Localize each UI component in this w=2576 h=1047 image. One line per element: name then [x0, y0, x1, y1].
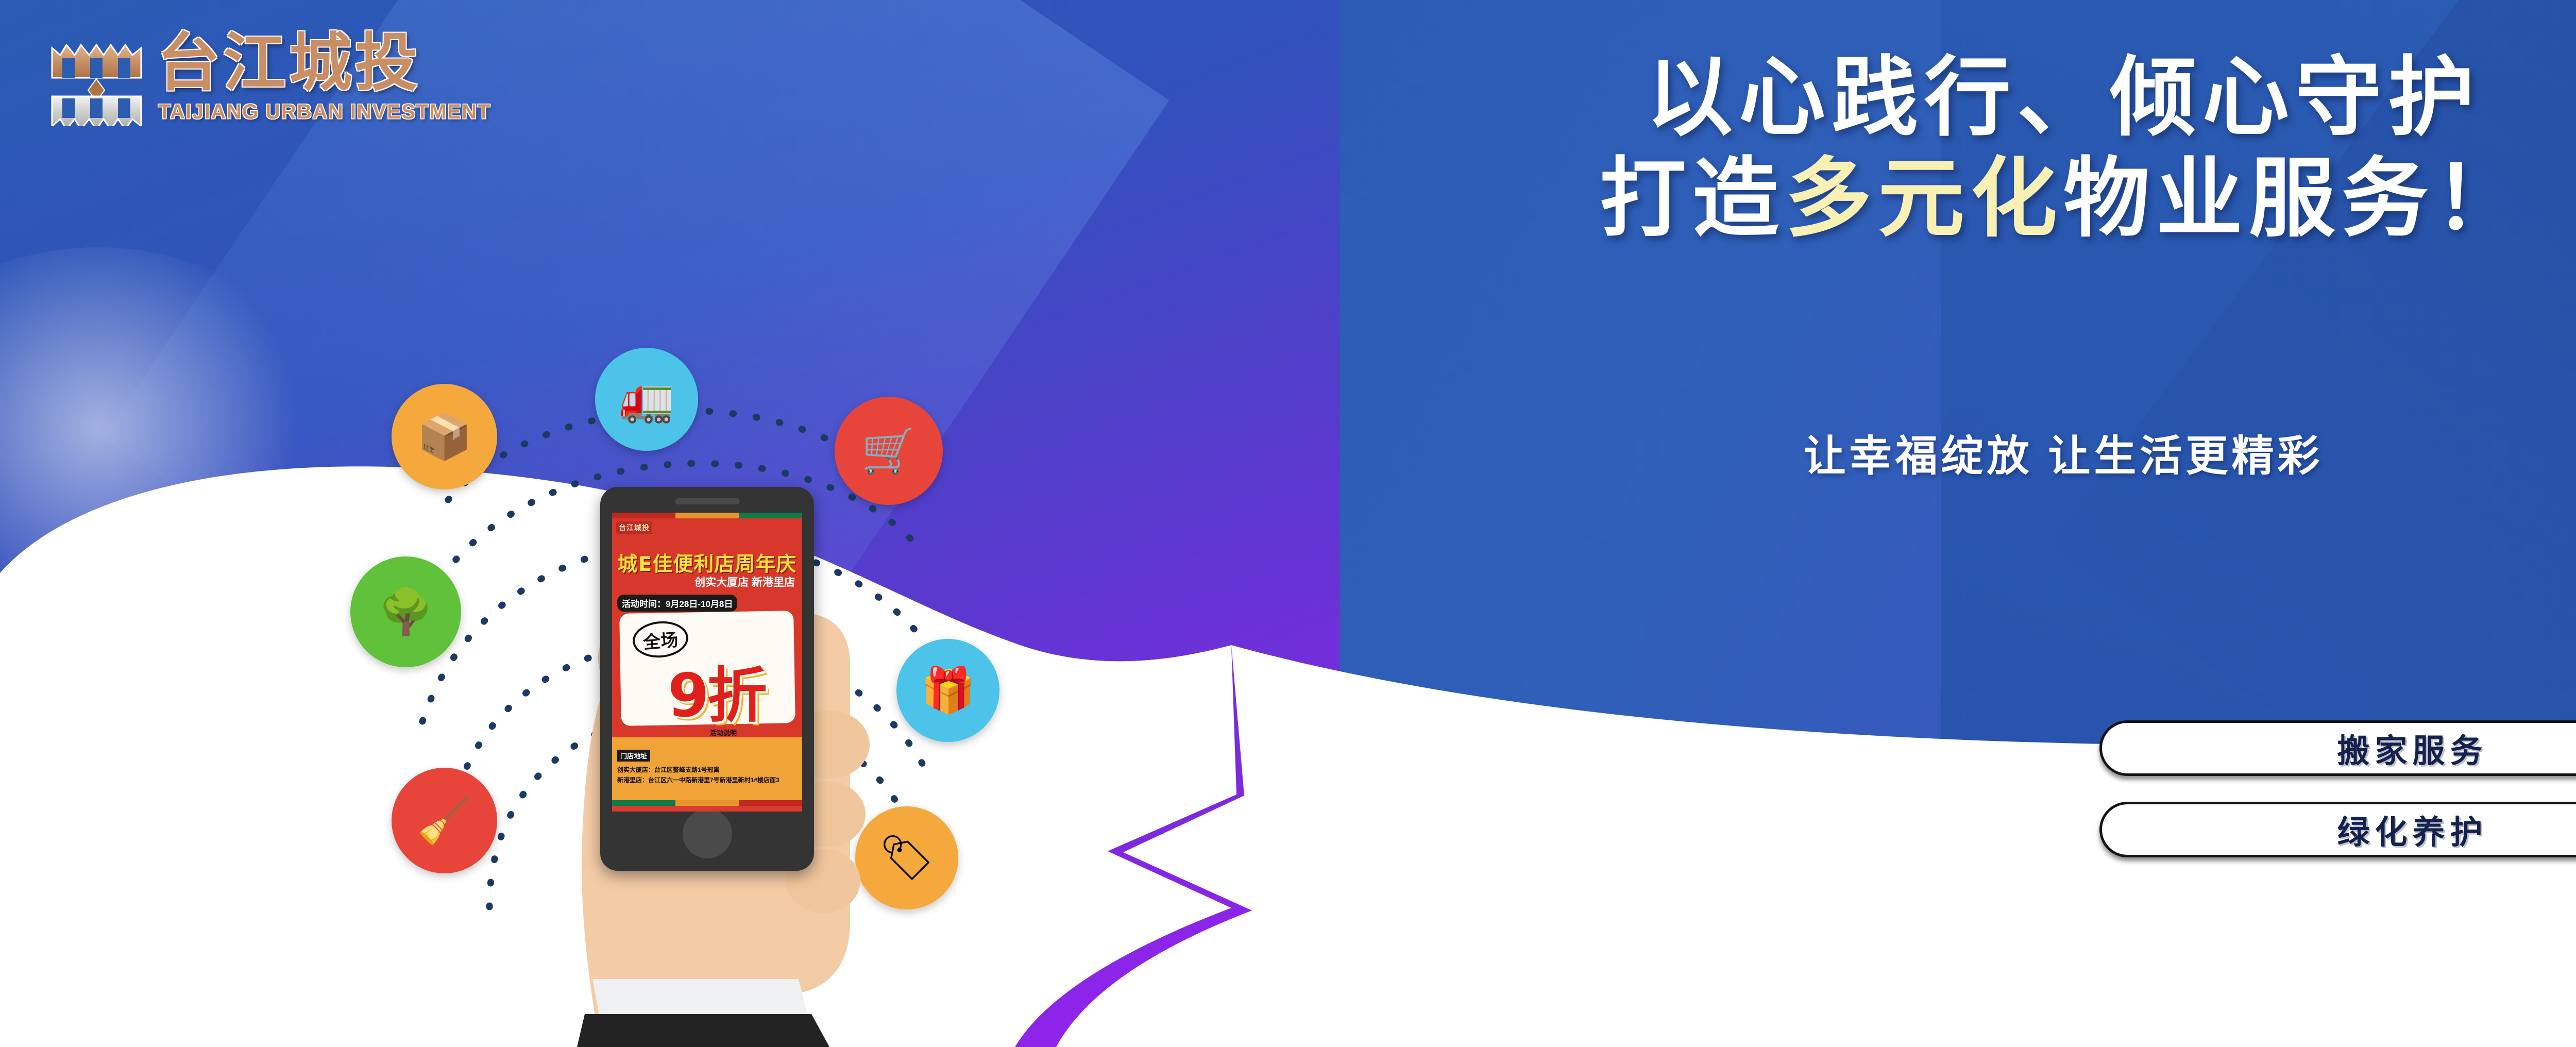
property-service-banner: 台江城投 TAIJIANG URBAN INVESTMENT 以心践行、倾心守护… — [0, 0, 2576, 1047]
service-button-label: 绿化养护 — [2337, 806, 2488, 853]
tree-icon: 🌳 — [350, 556, 461, 667]
brand-logo[interactable]: 台江城投 TAIJIANG URBAN INVESTMENT — [49, 28, 585, 129]
poster-top-colorbar — [612, 513, 802, 518]
logo-english-name: TAIJIANG URBAN INVESTMENT — [158, 100, 491, 124]
poster-discount-value: 9折 — [668, 647, 765, 734]
headline-line2-accent: 多元化 — [1785, 148, 2063, 249]
taijiang-gate-emblem-icon — [49, 28, 144, 126]
headline-line2-suffix: 物业服务！ — [2063, 148, 2527, 249]
poster-store-list: 创实大厦店 新港里店 — [612, 574, 795, 589]
cleaner-icon: 🧹 — [392, 768, 497, 873]
phone-speaker — [675, 498, 739, 504]
poster-address-2: 新港里店：台江区六一中路新港里7号新港里新村1#楼店面3 — [617, 775, 779, 784]
moving-box-icon: 📦 — [392, 384, 497, 489]
poster-bottom-colorbar — [612, 800, 802, 806]
poster-note-title: 活动说明 — [710, 728, 737, 737]
phone-screen[interactable]: 台江城投 城E佳便利店周年庆 创实大厦店 新港里店 活动时间：9月28日-10月… — [612, 513, 802, 812]
poster-title: 城E佳便利店周年庆 — [612, 548, 802, 577]
headline-line-1: 以心践行、倾心守护 — [1175, 49, 2576, 146]
poster-address-1: 创实大厦店：台江区鳌峰支路1号冠寓 — [617, 765, 720, 774]
poster-event-time: 活动时间：9月28日-10月8日 — [617, 595, 737, 612]
service-button-label: 搬家服务 — [2337, 725, 2488, 772]
phone-home-button[interactable] — [683, 809, 732, 858]
phone-hand-illustration: 📦 🚛 🛒 🌳 🎁 🧹 🏷 — [319, 330, 1092, 1047]
promo-poster: 台江城投 城E佳便利店周年庆 创实大厦店 新港里店 活动时间：9月28日-10月… — [612, 518, 802, 806]
recycle-truck-icon: 🚛 — [595, 348, 698, 451]
poster-logo: 台江城投 — [616, 521, 652, 534]
logo-chinese-name: 台江城投 — [157, 31, 421, 94]
poster-address-header: 门店地址 — [617, 750, 650, 762]
headline-subtitle: 让幸福绽放 让生活更精彩 — [1175, 421, 2576, 483]
service-button-moving[interactable]: 搬家服务 — [2099, 720, 2576, 776]
smartphone[interactable]: 台江城投 城E佳便利店周年庆 创实大厦店 新港里店 活动时间：9月28日-10月… — [600, 487, 814, 871]
headline-line2-prefix: 打造 — [1600, 148, 1785, 249]
service-button-grid: 搬家服务 商品零售 家政服务 绿化养护 停车服务 环境卫生 — [2099, 720, 2576, 857]
headline-block: 以心践行、倾心守护 打造多元化物业服务！ — [1175, 49, 2576, 247]
service-button-landscaping[interactable]: 绿化养护 — [2099, 802, 2576, 857]
headline-line-2: 打造多元化物业服务！ — [1175, 150, 2576, 247]
